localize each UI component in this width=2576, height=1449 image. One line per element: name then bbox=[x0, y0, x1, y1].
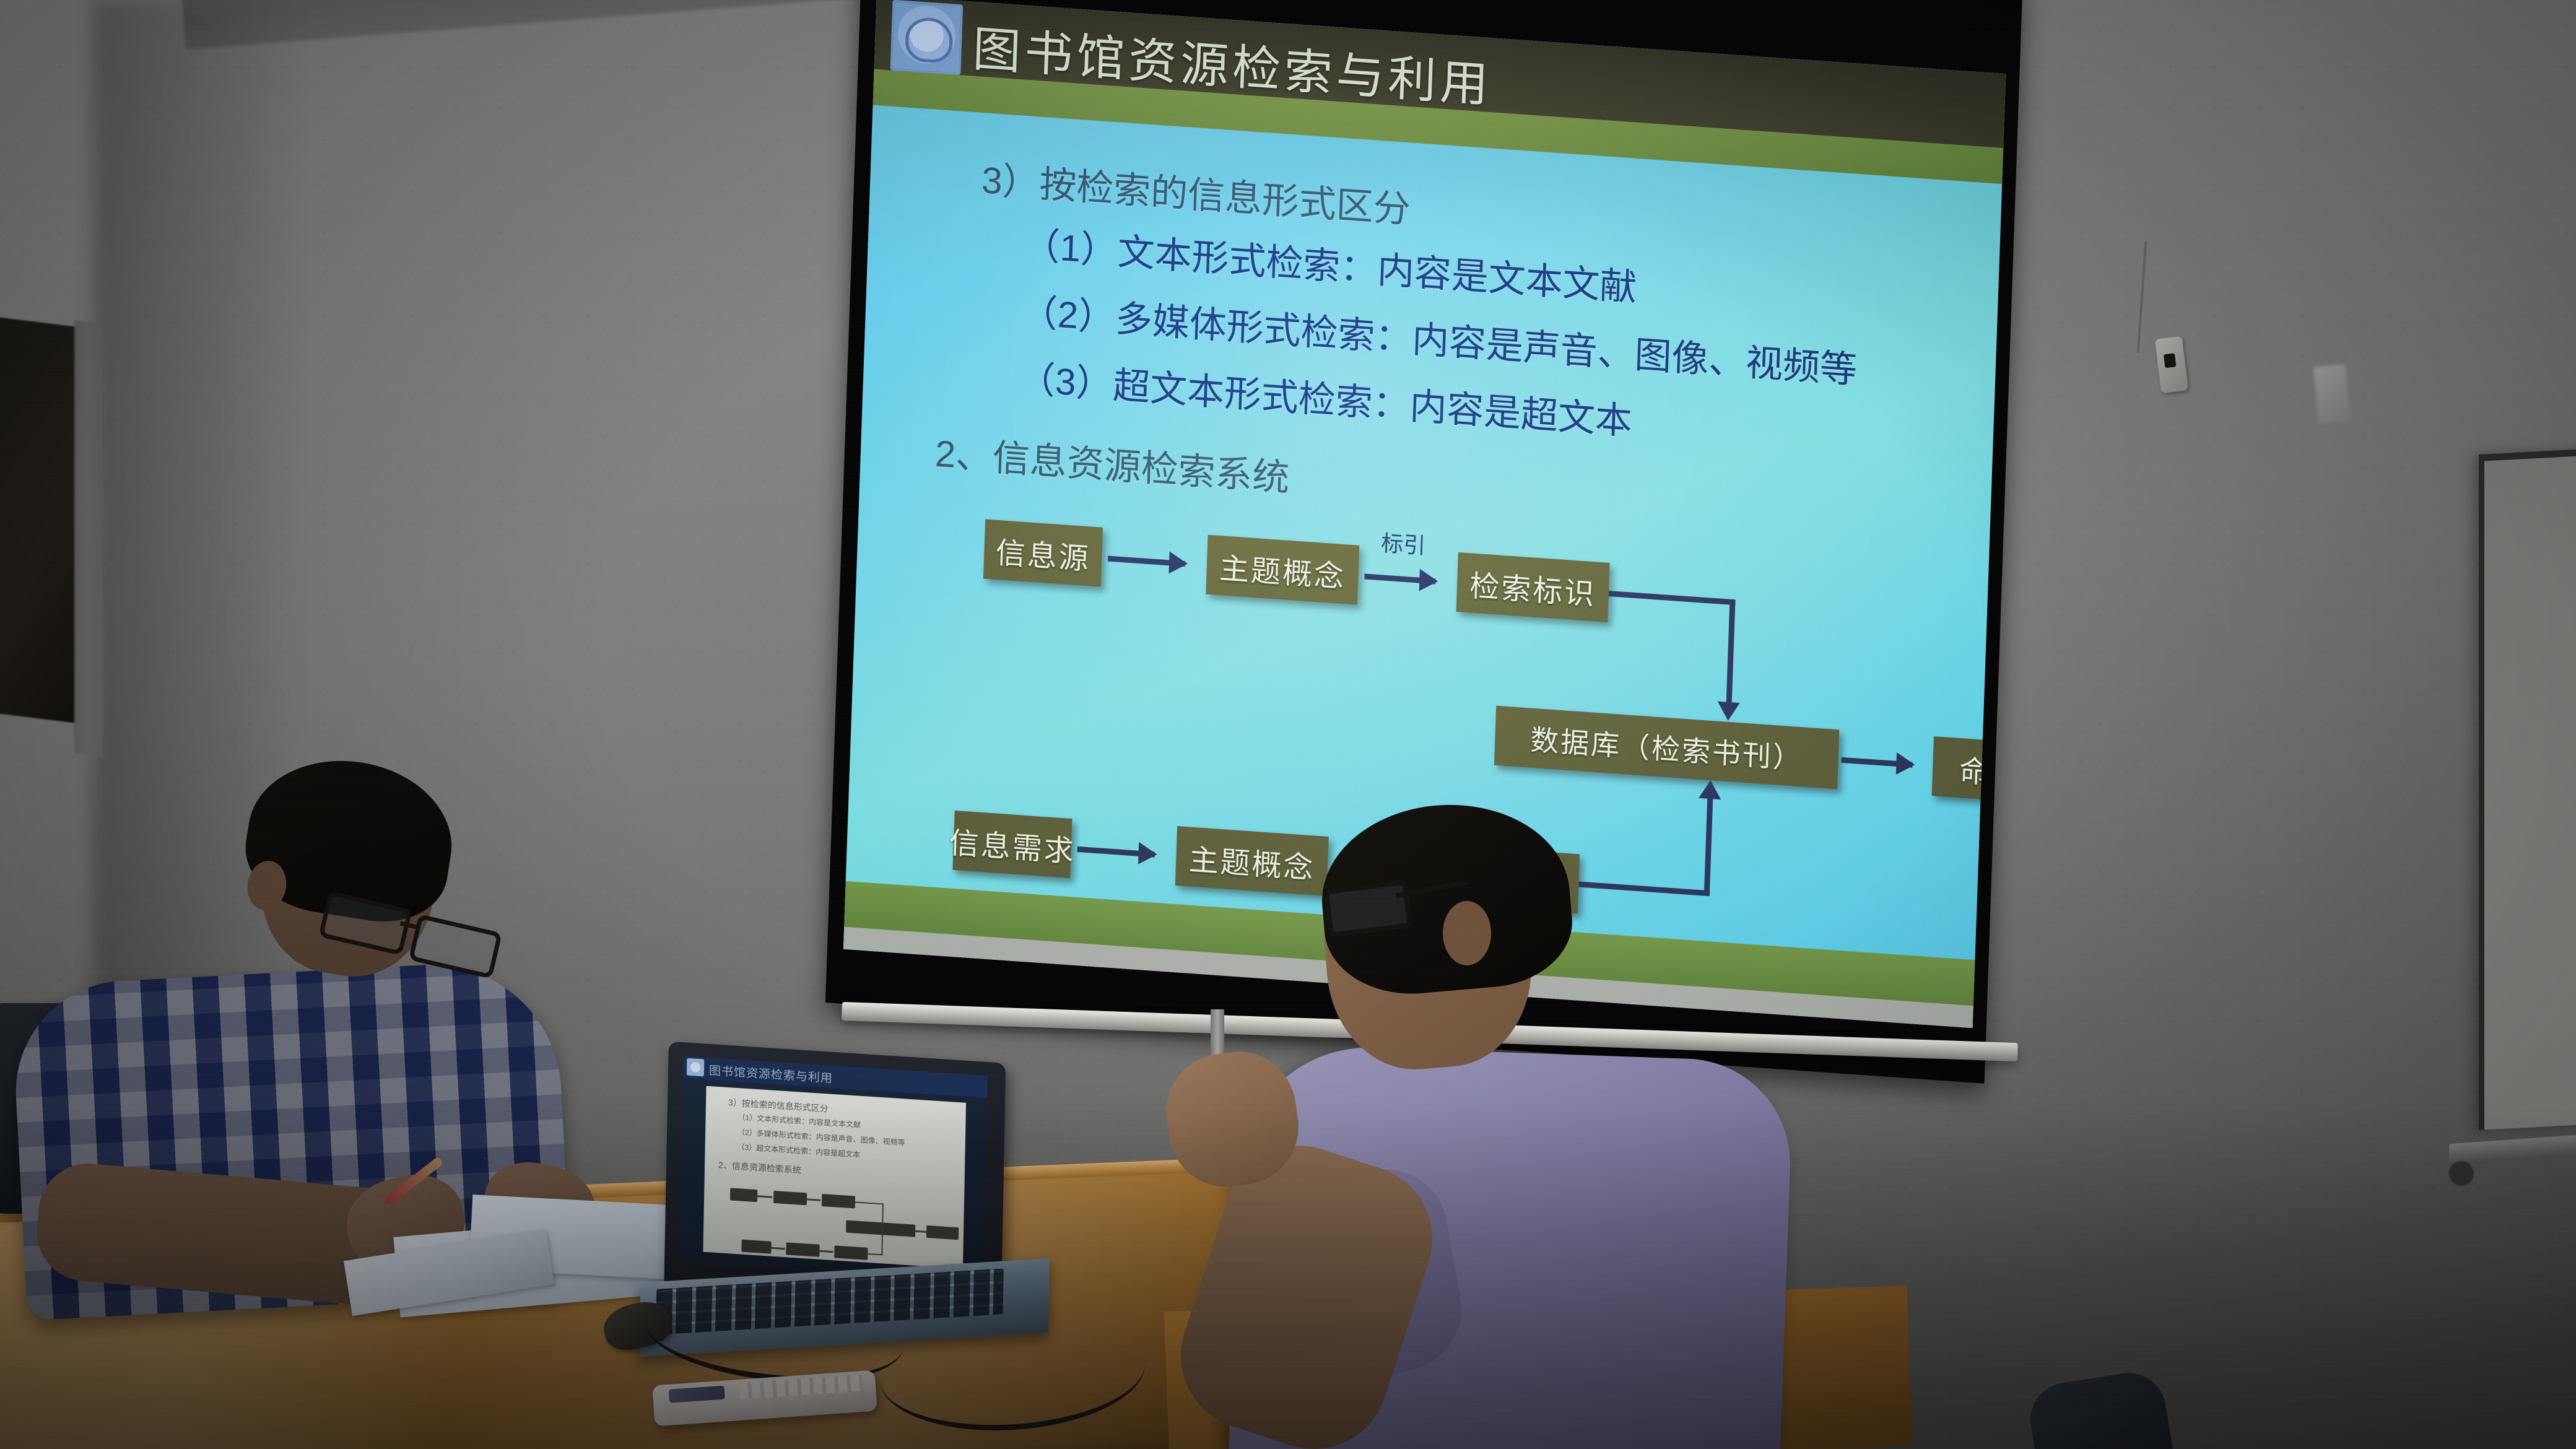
flow-box-topic-concept-top: 主题概念 bbox=[1206, 535, 1359, 605]
photo-scene: 图书馆资源检索与利用 3）按检索的信息形式区分 （1）文本形式检索：内容是文本文… bbox=[0, 0, 2576, 1449]
wall-scuff bbox=[2313, 364, 2351, 424]
university-crest-logo bbox=[890, 0, 963, 75]
flow-connector-bottom-v bbox=[1704, 796, 1713, 895]
flow-arrow-4 bbox=[1077, 846, 1155, 858]
flow-box-info-need: 信息需求 bbox=[952, 811, 1072, 878]
flow-box-search-tag: 检索标识 bbox=[1456, 552, 1610, 622]
whiteboard bbox=[2479, 447, 2576, 1130]
flow-arrow-2 bbox=[1364, 573, 1435, 584]
flow-arrow-1 bbox=[1108, 555, 1185, 567]
flow-box-database: 数据库（检索书刊） bbox=[1494, 706, 1839, 790]
eyeglass-lens bbox=[1323, 879, 1412, 938]
flow-edge-label-biaoyin: 标引 bbox=[1381, 525, 1427, 560]
doorway bbox=[0, 316, 80, 723]
flow-box-topic-concept-bottom: 主题概念 bbox=[1175, 826, 1329, 896]
flow-connector-bottom-h bbox=[1578, 881, 1710, 896]
laptop-slide-logo bbox=[687, 1058, 705, 1077]
flow-arrow-3 bbox=[1841, 757, 1912, 768]
lower-shadow bbox=[0, 1102, 2576, 1449]
flow-box-info-source: 信息源 bbox=[983, 520, 1103, 587]
sensor-lens-icon bbox=[2164, 353, 2177, 368]
flow-connector-top-v bbox=[1726, 599, 1736, 705]
laptop-slide-title: 图书馆资源检索与利用 bbox=[709, 1061, 833, 1086]
flow-connector-top-h bbox=[1609, 591, 1736, 605]
